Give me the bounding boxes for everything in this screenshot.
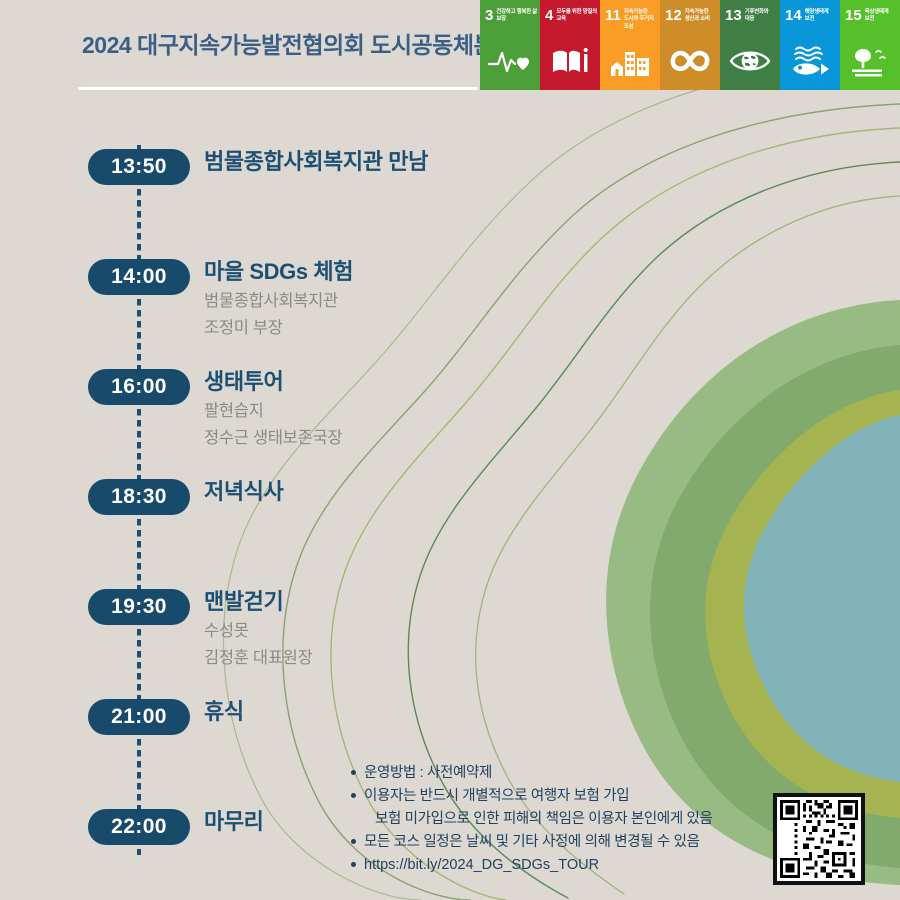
note-item: 이용자는 반드시 개별적으로 여행자 보험 가입 [350,785,770,807]
tree-birds-icon [840,41,900,81]
sdg-tile-13: 13 기후변화와 대응 [720,0,780,90]
sdg-tile-3: 3 건강하고 행복한 삶 보장 [480,0,540,90]
sdg-heading: 4 모두를 위한 양질의 교육 [545,8,597,24]
sdg-label: 지속가능한 생산과 소비 [685,8,717,24]
fish-waves-icon [780,41,840,81]
sdg-label: 건강하고 행복한 삶 보장 [496,8,537,24]
timeline-entry: 맨발걷기 수성못 김정훈 대표원장 [204,587,624,671]
timeline-entry: 휴식 [204,697,624,727]
sdg-label: 기후변화와 대응 [745,8,777,24]
entry-title: 마을 SDGs 체험 [204,257,624,287]
globe-eye-icon [720,41,780,81]
poster-canvas: 2024 대구지속가능발전협의회 도시공동체분과 3 건강하고 행복한 삶 보장… [0,0,900,900]
qr-code[interactable] [773,793,865,885]
entry-place: 범물종합사회복지관 [204,290,624,314]
page-title: 2024 대구지속가능발전협의회 도시공동체분과 [82,26,515,60]
entry-person: 정수근 생태보존국장 [204,427,624,451]
sdg-heading: 14 해양생태계 보전 [785,8,837,24]
sdg-tile-15: 15 육상생태계 보전 [840,0,900,90]
open-book-icon [540,41,600,81]
sdg-number: 4 [545,8,553,23]
header-divider [78,87,478,90]
entry-title: 범물종합사회복지관 만남 [204,147,624,177]
heartbeat-icon [480,41,540,81]
sdg-label: 지속가능한 도시와 주거지 조성 [624,8,657,31]
sdg-number: 3 [485,8,493,23]
sdg-heading: 13 기후변화와 대응 [725,8,777,24]
timeline-entry: 마을 SDGs 체험 범물종합사회복지관 조정미 부장 [204,257,624,341]
sdg-tile-12: 12 지속가능한 생산과 소비 [660,0,720,90]
time-badge[interactable]: 13:50 [88,149,190,185]
time-badge[interactable]: 22:00 [88,809,190,845]
sdg-heading: 11 지속가능한 도시와 주거지 조성 [605,8,657,31]
sdg-label: 모두를 위한 양질의 교육 [556,8,597,24]
infinity-icon [660,41,720,81]
cityscape-icon [600,41,660,81]
sdg-heading: 3 건강하고 행복한 삶 보장 [485,8,537,24]
entry-place: 수성못 [204,620,624,644]
timeline-entry: 저녁식사 [204,477,624,507]
sdg-tile-4: 4 모두를 위한 양질의 교육 [540,0,600,90]
timeline-entry: 생태투어 팔현습지 정수근 생태보존국장 [204,367,624,451]
entry-title: 맨발걷기 [204,587,624,617]
time-badge[interactable]: 14:00 [88,259,190,295]
sdg-number: 11 [605,8,621,23]
note-link[interactable]: https://bit.ly/2024_DG_SDGs_TOUR [350,854,770,876]
entry-place: 팔현습지 [204,400,624,424]
sdg-goal-strip: 3 건강하고 행복한 삶 보장 4 모두를 위한 양질의 교육 [480,0,900,90]
sdg-tile-11: 11 지속가능한 도시와 주거지 조성 [600,0,660,90]
sdg-heading: 15 육상생태계 보전 [845,8,897,24]
sdg-number: 14 [785,8,802,23]
time-badge[interactable]: 18:30 [88,479,190,515]
time-badge[interactable]: 16:00 [88,369,190,405]
sdg-number: 13 [725,8,742,23]
sdg-tile-14: 14 해양생태계 보전 [780,0,840,90]
note-item: 모든 코스 일정은 날씨 및 기타 사정에 의해 변경될 수 있음 [350,831,770,853]
entry-person: 조정미 부장 [204,317,624,341]
time-badge[interactable]: 19:30 [88,589,190,625]
notes-list: 운영방법 : 사전예약제 이용자는 반드시 개별적으로 여행자 보험 가입 보험… [350,762,770,877]
timeline-entry: 범물종합사회복지관 만남 [204,147,624,177]
entry-title: 저녁식사 [204,477,624,507]
entry-person: 김정훈 대표원장 [204,647,624,671]
note-item: 운영방법 : 사전예약제 [350,762,770,784]
sdg-number: 15 [845,8,862,23]
sdg-number: 12 [665,8,682,23]
note-continuation: 보험 미가입으로 인한 피해의 책임은 이용자 본인에게 있음 [350,808,770,830]
entry-title: 휴식 [204,697,624,727]
sdg-label: 육상생태계 보전 [865,8,897,24]
sdg-heading: 12 지속가능한 생산과 소비 [665,8,717,24]
time-badge[interactable]: 21:00 [88,699,190,735]
sdg-label: 해양생태계 보전 [805,8,837,24]
entry-title: 생태투어 [204,367,624,397]
